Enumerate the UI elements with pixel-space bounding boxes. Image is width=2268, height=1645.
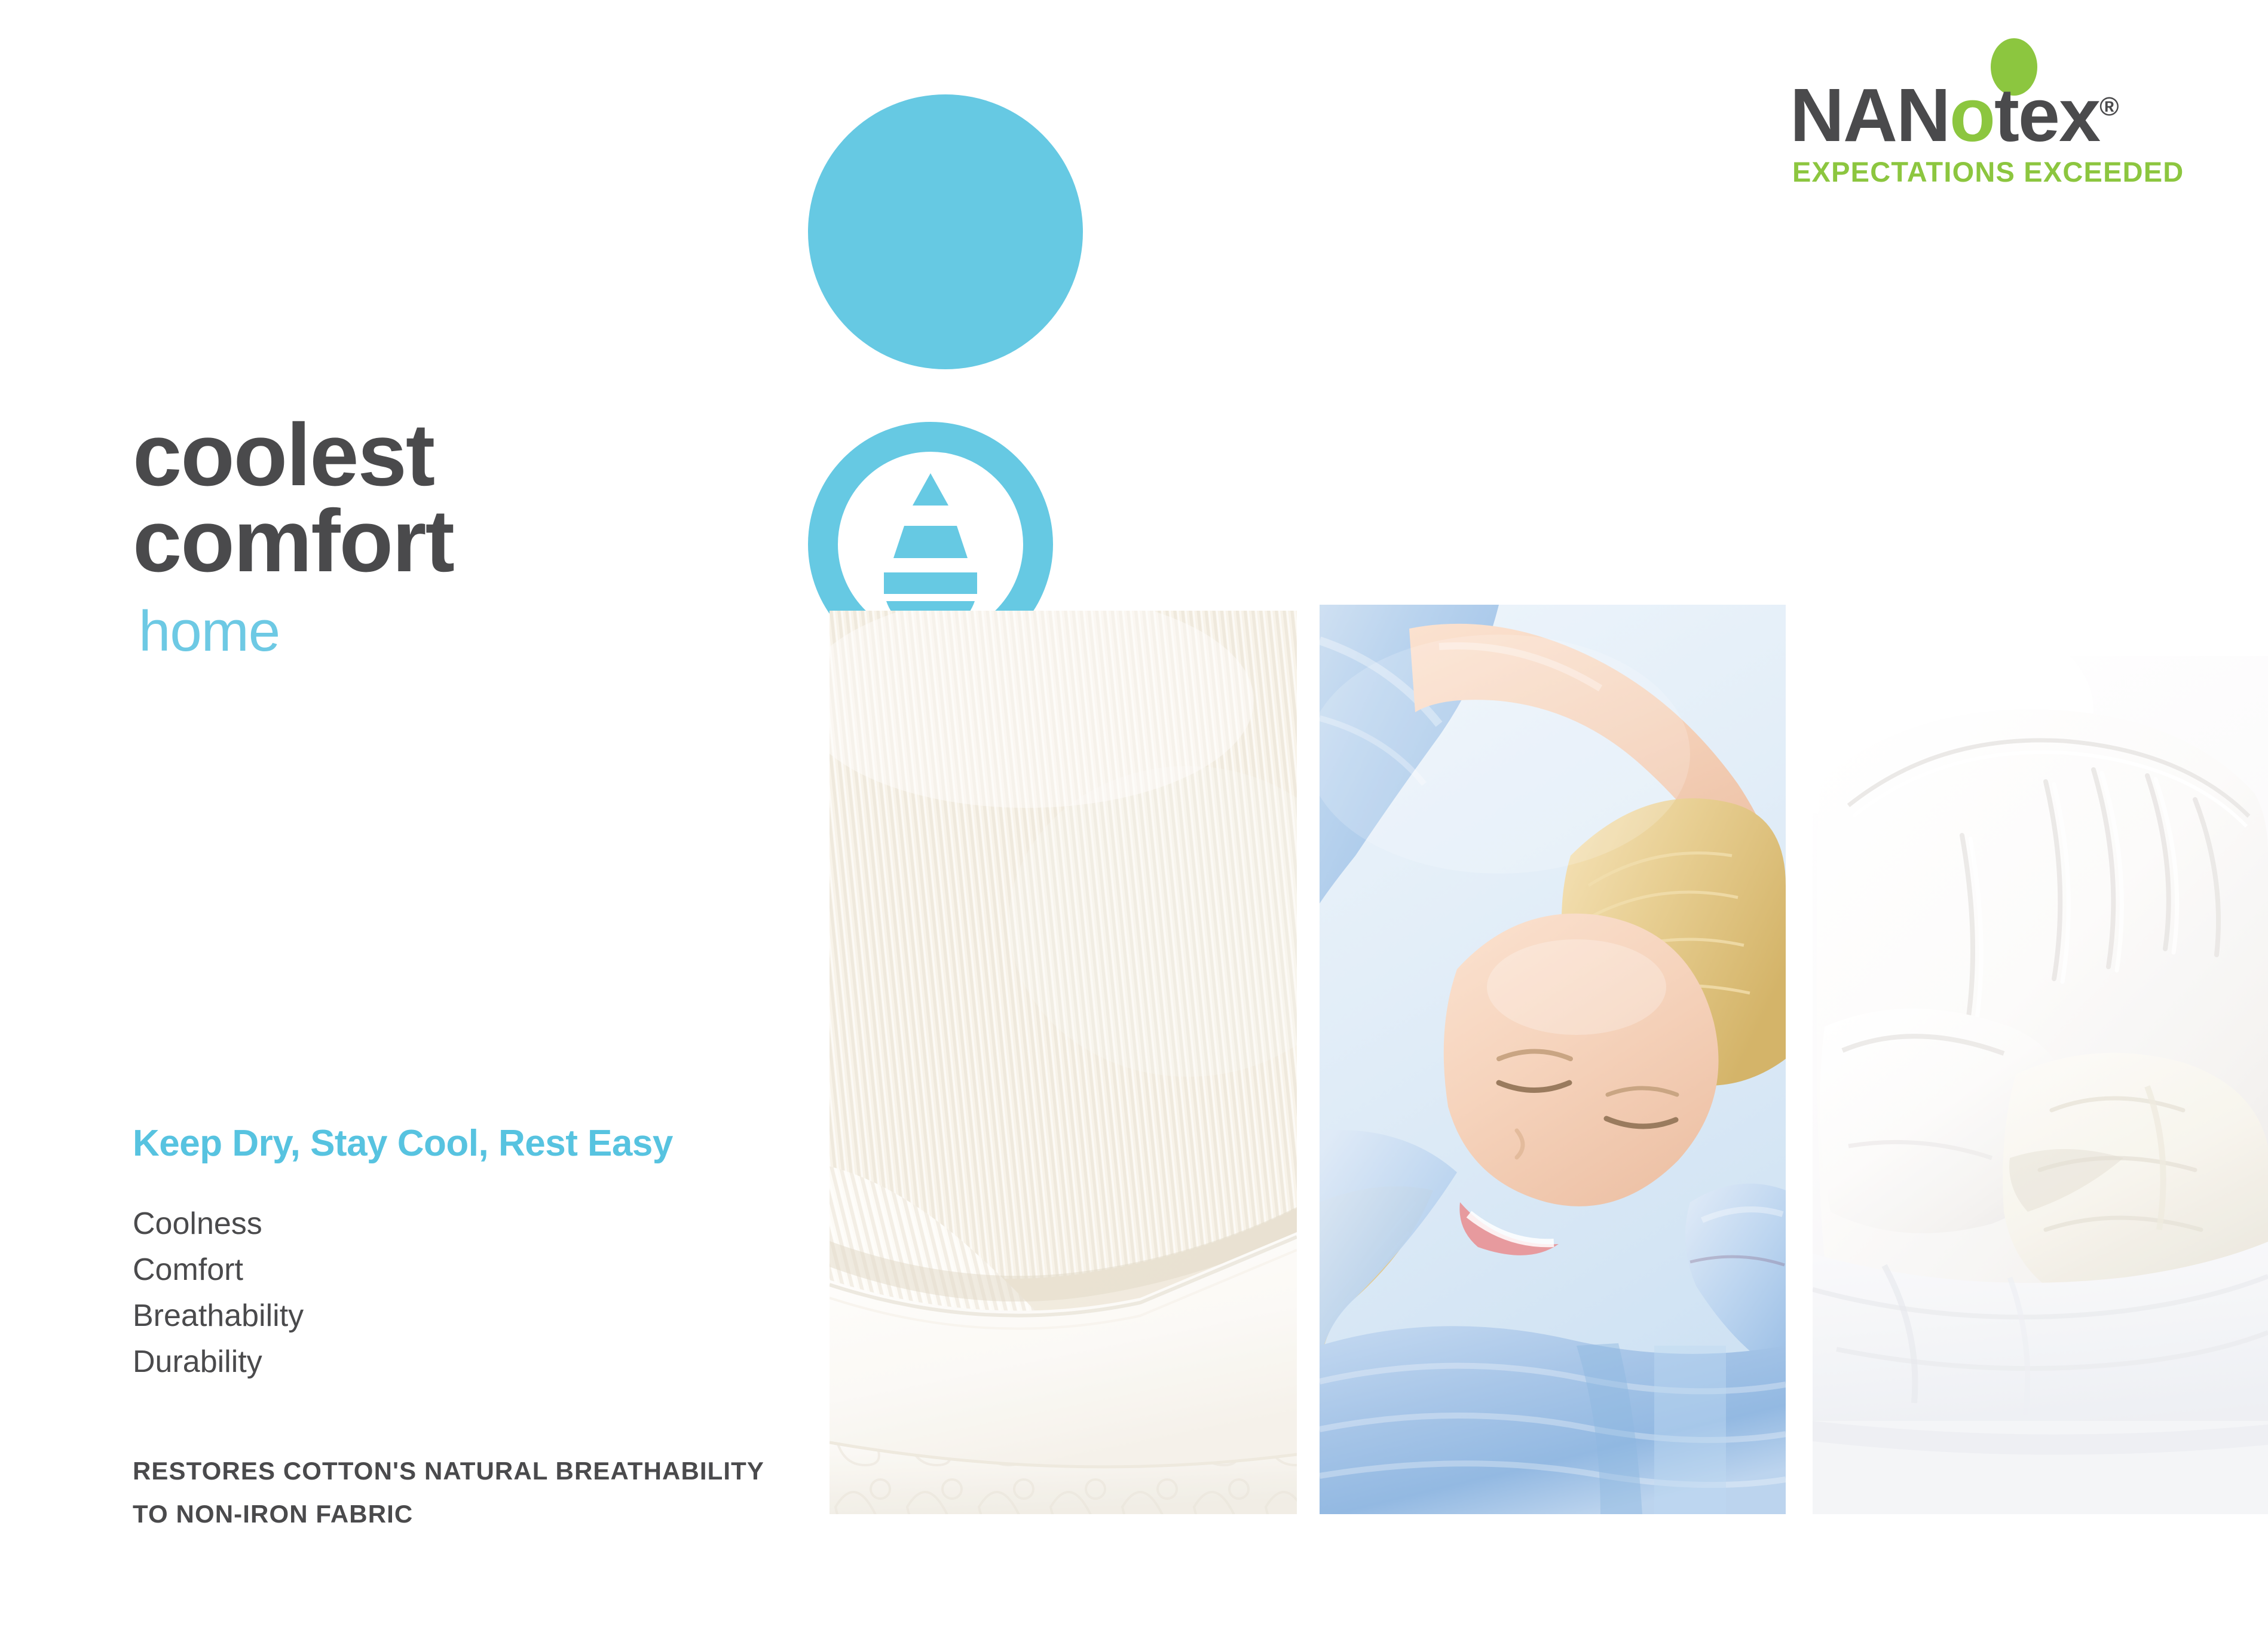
logo-tagline: EXPECTATIONS EXCEEDED [1792,155,2184,188]
benefits-list: Coolness Comfort Breathability Durabilit… [133,1201,802,1385]
logo-text-o: o [1949,73,1994,157]
logo-text-nan: NAN [1790,73,1949,157]
headline-subtitle-home: home [139,597,730,666]
image-panel-woman-stretching [1320,605,1786,1514]
logo-text-tex: tex [1994,73,2099,157]
list-item: Comfort [133,1247,802,1293]
poster-page: NANotex® EXPECTATIONS EXCEEDED coolest c… [0,0,2268,1645]
list-item: Breathability [133,1293,802,1339]
claim-block: RESTORES COTTON'S NATURAL BREATHABILITY … [133,1450,802,1536]
list-item: Coolness [133,1201,802,1247]
filled-blue-circle-icon [808,94,1083,369]
icon-stack [795,94,1076,686]
benefits-block: Keep Dry, Stay Cool, Rest Easy Coolness … [133,1123,802,1536]
nanotex-logo: NANotex® EXPECTATIONS EXCEEDED [1790,36,2196,167]
headline-line-1: coolest [133,412,730,498]
headline-block: coolest comfort home [133,412,730,666]
claim-line-2: TO NON-IRON FABRIC [133,1493,802,1536]
benefits-heading: Keep Dry, Stay Cool, Rest Easy [133,1123,802,1164]
image-panel-corduroy-towels [830,611,1297,1514]
claim-line-1: RESTORES COTTON'S NATURAL BREATHABILITY [133,1450,802,1493]
logo-registered-mark: ® [2099,92,2119,121]
image-panel-white-comforter [1813,656,2268,1514]
logo-wordmark: NANotex® [1790,78,2119,153]
headline-line-2: comfort [133,498,730,584]
striped-water-droplet-icon [859,468,1002,621]
list-item: Durability [133,1339,802,1385]
